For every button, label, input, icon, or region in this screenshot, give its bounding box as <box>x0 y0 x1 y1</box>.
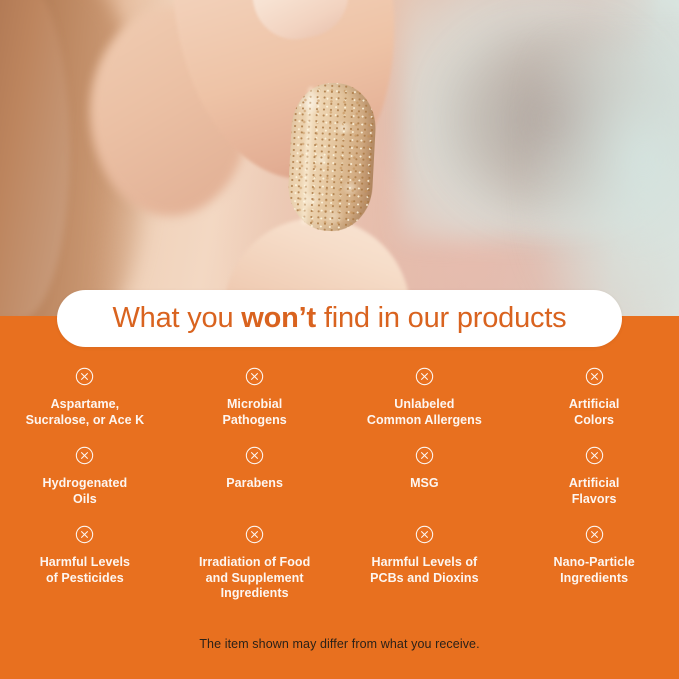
circle-x-icon <box>415 367 434 386</box>
circle-x-icon <box>585 525 604 544</box>
headline-suffix: find in our products <box>316 302 567 334</box>
circle-x-icon <box>585 367 604 386</box>
list-item-label: Harmful Levels of Pesticides <box>40 555 130 586</box>
list-item-label: Artificial Flavors <box>569 476 620 507</box>
list-item: Harmful Levels of Pesticides <box>0 525 170 604</box>
circle-x-icon <box>75 367 94 386</box>
circle-x-icon <box>415 525 434 544</box>
page-title: What you won’t find in our products <box>113 302 567 335</box>
list-item-label: Aspartame, Sucralose, or Ace K <box>26 397 145 428</box>
circle-x-icon <box>245 446 264 465</box>
excluded-ingredients-grid: Aspartame, Sucralose, or Ace K Microbial… <box>0 367 679 604</box>
list-item: Unlabeled Common Allergens <box>340 367 510 446</box>
list-item: Hydrogenated Oils <box>0 446 170 525</box>
hero-photo <box>0 0 679 318</box>
headline-prefix: What you <box>113 302 242 334</box>
list-item-label: Microbial Pathogens <box>222 397 286 428</box>
list-item-label: Harmful Levels of PCBs and Dioxins <box>370 555 478 586</box>
list-item: Microbial Pathogens <box>170 367 340 446</box>
circle-x-icon <box>415 446 434 465</box>
headline-pill: What you won’t find in our products <box>57 290 622 347</box>
list-item-label: Hydrogenated Oils <box>43 476 128 507</box>
list-item: Artificial Flavors <box>509 446 679 525</box>
circle-x-icon <box>585 446 604 465</box>
photo-blur-teal <box>529 40 679 318</box>
disclaimer-text: The item shown may differ from what you … <box>0 637 679 651</box>
list-item: Irradiation of Food and Supplement Ingre… <box>170 525 340 604</box>
tablet-icon <box>286 81 378 233</box>
list-item: MSG <box>340 446 510 525</box>
product-claims-banner: What you won’t find in our products Aspa… <box>0 0 679 679</box>
list-item-label: Unlabeled Common Allergens <box>367 397 482 428</box>
list-item: Artificial Colors <box>509 367 679 446</box>
list-item-label: MSG <box>410 476 439 492</box>
list-item-label: Parabens <box>226 476 283 492</box>
circle-x-icon <box>75 525 94 544</box>
list-item: Aspartame, Sucralose, or Ace K <box>0 367 170 446</box>
circle-x-icon <box>245 525 264 544</box>
circle-x-icon <box>75 446 94 465</box>
list-item: Harmful Levels of PCBs and Dioxins <box>340 525 510 604</box>
list-item-label: Artificial Colors <box>569 397 620 428</box>
circle-x-icon <box>245 367 264 386</box>
list-item-label: Nano-Particle Ingredients <box>554 555 635 586</box>
headline-emphasis: won’t <box>241 302 316 334</box>
list-item-label: Irradiation of Food and Supplement Ingre… <box>199 555 310 602</box>
list-item: Nano-Particle Ingredients <box>509 525 679 604</box>
list-item: Parabens <box>170 446 340 525</box>
